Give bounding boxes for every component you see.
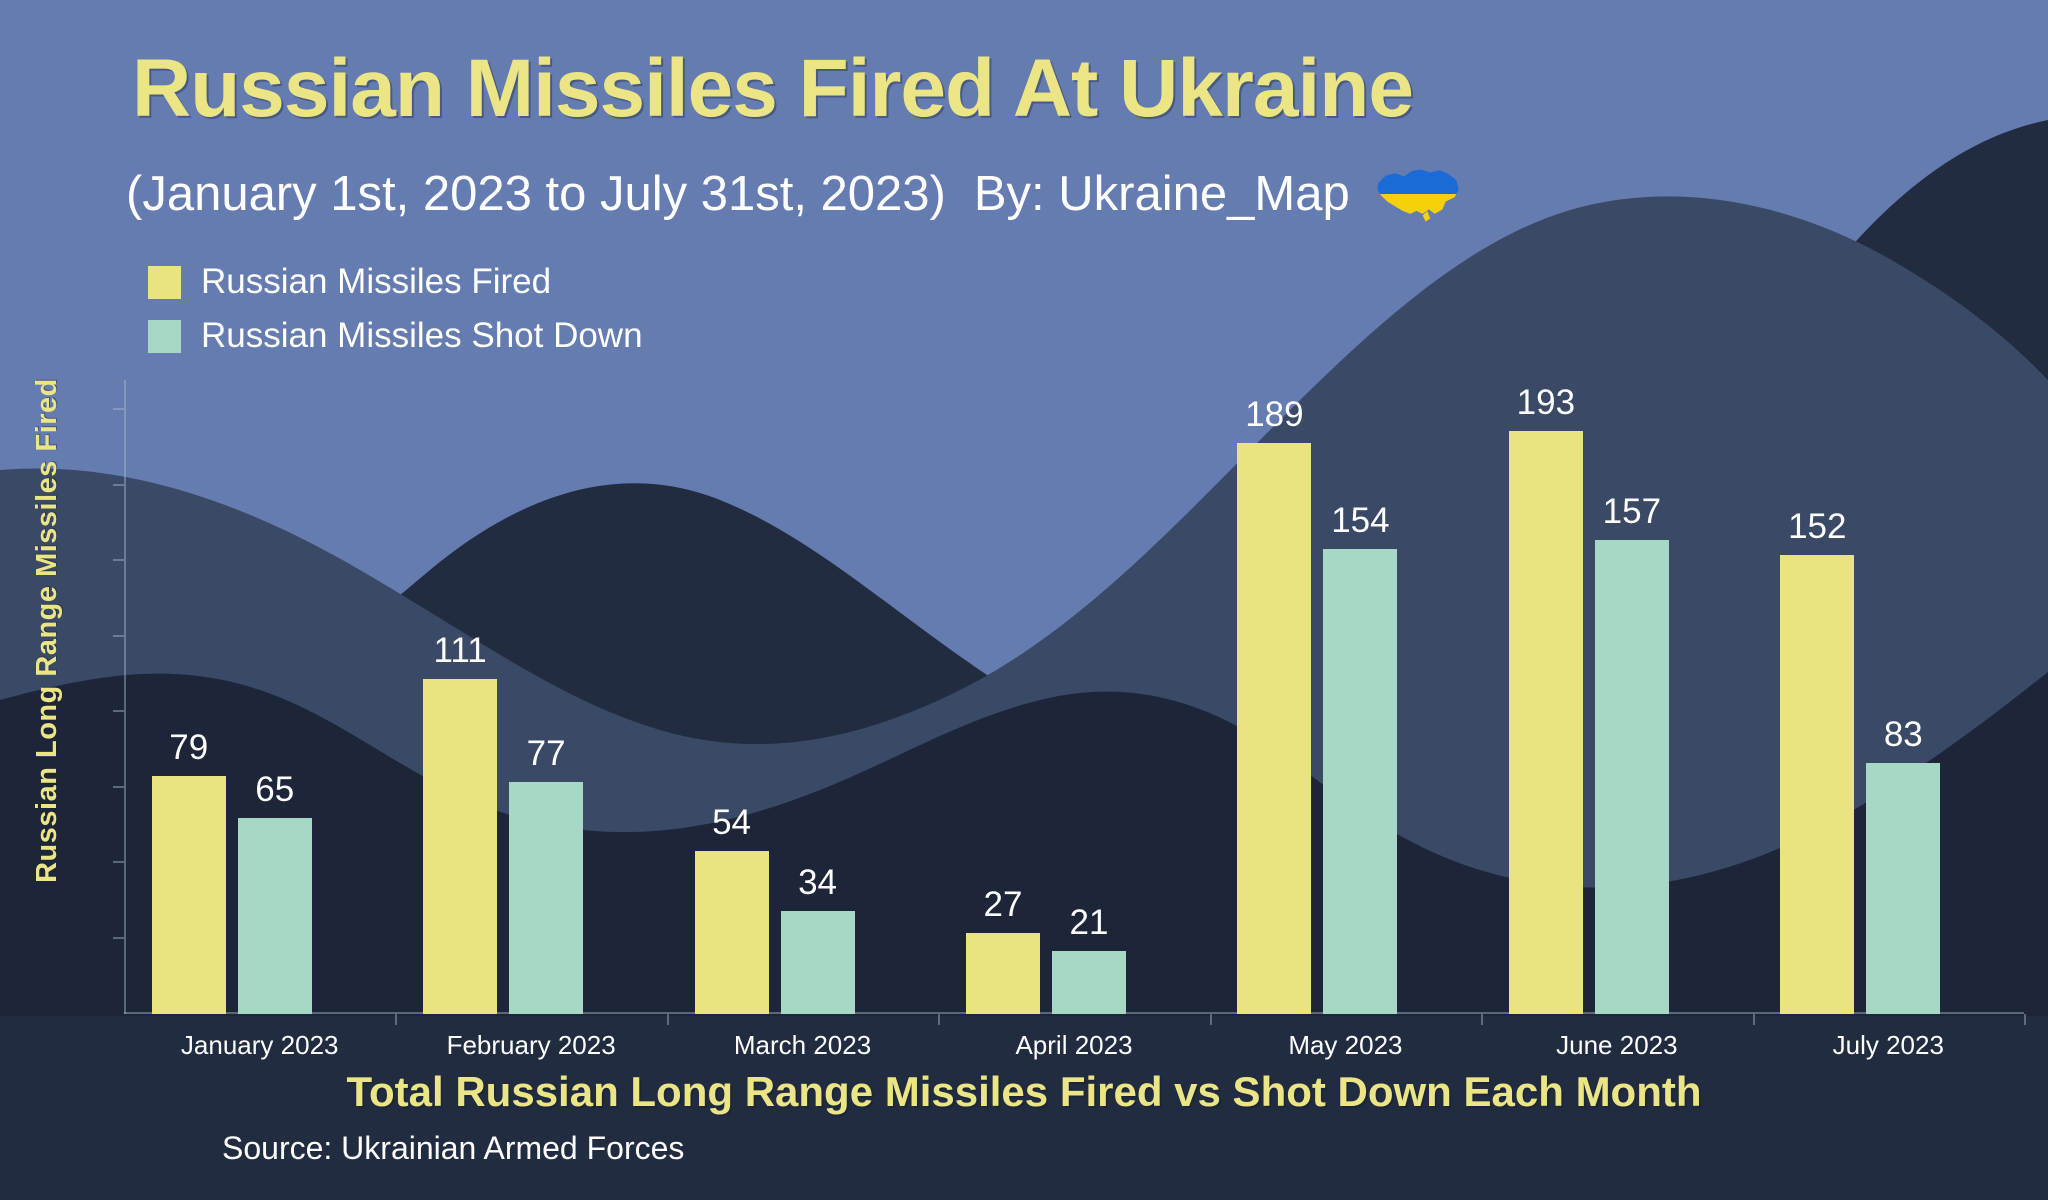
bar-value-label: 83 [1848,715,1958,755]
x-axis-tick [395,1014,397,1025]
y-axis-title: Russian Long Range Missiles Fired [18,270,76,990]
y-axis-tick [113,635,124,637]
bar-shot-down [238,818,312,1014]
x-axis-tick [2024,1014,2026,1025]
bar-value-label: 157 [1577,492,1687,532]
bar-value-label: 154 [1305,501,1415,541]
chart-infographic: Russian Missiles Fired At Ukraine (Janua… [0,0,2048,1200]
bar-shot-down [1052,951,1126,1014]
bar-fired [1237,443,1311,1014]
x-axis-title: Total Russian Long Range Missiles Fired … [0,1068,2048,1116]
bar-value-label: 193 [1491,383,1601,423]
legend-swatch-icon [148,320,181,353]
y-axis-tick [113,786,124,788]
y-axis-line [124,380,126,1014]
y-axis-tick [113,408,124,410]
legend-swatch-icon [148,266,181,299]
bar-value-label: 65 [220,770,330,810]
bar-shot-down [1595,540,1669,1014]
bar-value-label: 77 [491,734,601,774]
bar-fired [695,851,769,1014]
source-note: Source: Ukrainian Armed Forces [222,1130,684,1167]
bar-fired [423,679,497,1014]
bar-value-label: 111 [405,631,515,671]
bar-fired [966,933,1040,1015]
x-axis-tick [938,1014,940,1025]
y-axis-tick [113,937,124,939]
chart-legend: Russian Missiles Fired Russian Missiles … [148,262,643,370]
plot-area: 7965January 202311177February 20235434Ma… [124,380,2024,1014]
legend-item-shot-down: Russian Missiles Shot Down [148,316,643,356]
legend-item-fired: Russian Missiles Fired [148,262,643,302]
bar-value-label: 54 [677,803,787,843]
bar-fired [1780,555,1854,1014]
y-axis-tick [113,484,124,486]
bar-value-label: 34 [763,863,873,903]
bar-shot-down [781,911,855,1014]
x-axis-tick [1210,1014,1212,1025]
y-axis-tick [113,559,124,561]
legend-item-label: Russian Missiles Fired [201,262,551,302]
bar-fired [1509,431,1583,1014]
x-axis-tick [1753,1014,1755,1025]
y-axis-tick [113,710,124,712]
bar-value-label: 79 [134,728,244,768]
bar-shot-down [509,782,583,1014]
bar-fired [152,776,226,1015]
x-axis-tick [667,1014,669,1025]
bar-value-label: 21 [1034,903,1144,943]
x-axis-category-label: July 2023 [1713,1030,2048,1061]
y-axis-tick [113,861,124,863]
bar-value-label: 189 [1219,395,1329,435]
y-axis-title-text: Russian Long Range Missiles Fired [31,378,64,883]
bar-value-label: 152 [1762,507,1872,547]
legend-item-label: Russian Missiles Shot Down [201,316,643,356]
bar-shot-down [1866,763,1940,1014]
bar-shot-down [1323,549,1397,1014]
x-axis-tick [1481,1014,1483,1025]
